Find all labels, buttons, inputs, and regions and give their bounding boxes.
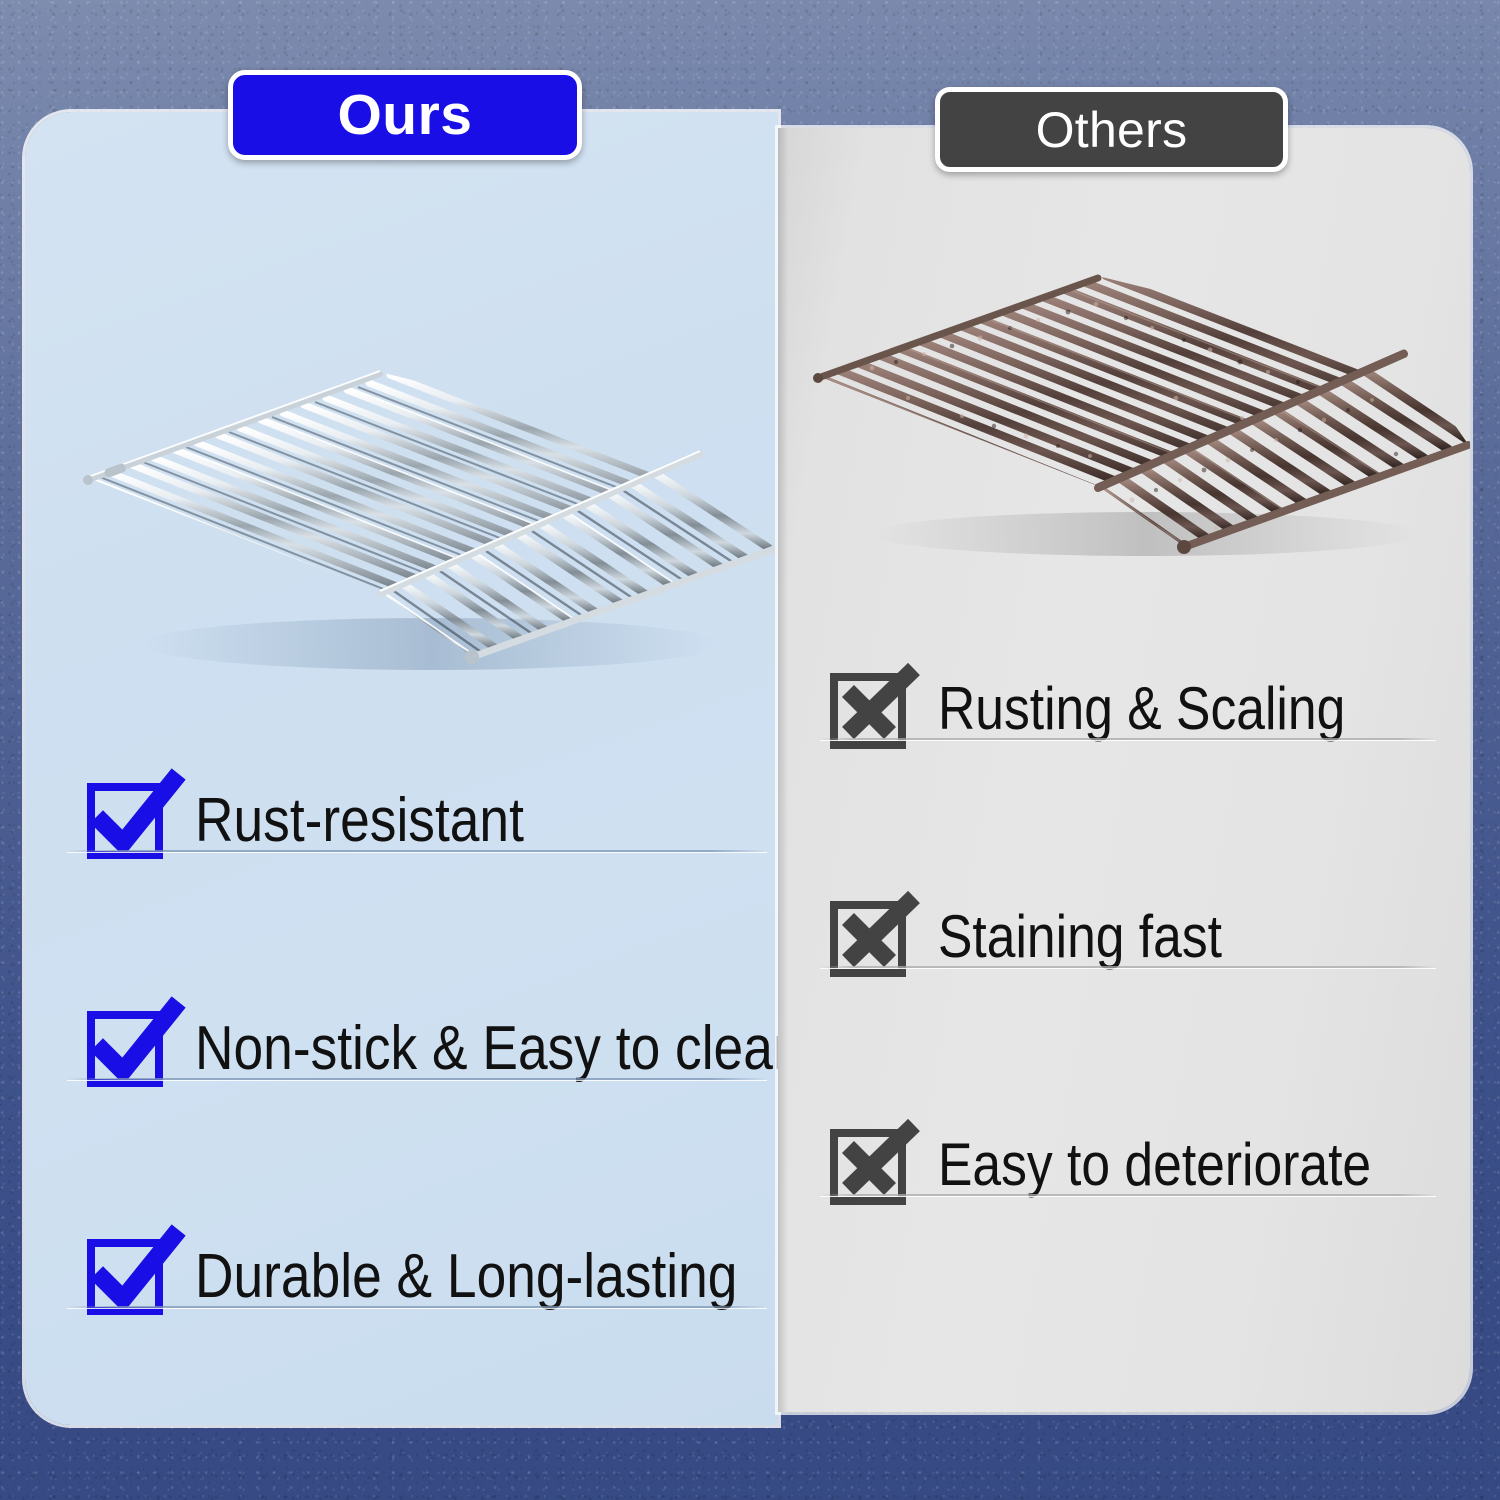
ours-product-image bbox=[80, 360, 778, 670]
ours-feature-list: Rust-resistant Non-stick & Easy to clean bbox=[67, 707, 777, 1391]
ours-panel: Rust-resistant Non-stick & Easy to clean bbox=[25, 112, 778, 1425]
feature-label: Durable & Long-lasting bbox=[195, 1246, 737, 1308]
feature-label: Staining fast bbox=[938, 907, 1222, 967]
feature-row: Non-stick & Easy to clean bbox=[67, 935, 777, 1163]
feature-row: Rusting & Scaling bbox=[820, 595, 1460, 823]
feature-row: Durable & Long-lasting bbox=[67, 1163, 777, 1391]
row-separator bbox=[820, 738, 1436, 740]
feature-label: Rusting & Scaling bbox=[938, 679, 1345, 739]
row-separator bbox=[820, 1194, 1436, 1196]
others-badge-label: Others bbox=[1036, 101, 1188, 159]
feature-row: Rust-resistant bbox=[67, 707, 777, 935]
row-separator bbox=[67, 1078, 767, 1080]
row-separator bbox=[67, 850, 767, 852]
feature-label: Non-stick & Easy to clean bbox=[195, 1018, 778, 1080]
ours-badge: Ours bbox=[228, 70, 582, 160]
others-badge: Others bbox=[935, 87, 1288, 172]
feature-row: Easy to deteriorate bbox=[820, 1051, 1460, 1279]
row-separator bbox=[67, 1306, 767, 1308]
others-feature-list: Rusting & Scaling Staining fast bbox=[820, 595, 1460, 1279]
feature-label: Easy to deteriorate bbox=[938, 1135, 1371, 1195]
feature-row: Staining fast bbox=[820, 823, 1460, 1051]
row-separator bbox=[820, 966, 1436, 968]
ours-badge-label: Ours bbox=[337, 82, 472, 148]
feature-label: Rust-resistant bbox=[195, 790, 524, 852]
comparison-infographic: Rust-resistant Non-stick & Easy to clean bbox=[0, 0, 1500, 1500]
others-product-image bbox=[812, 268, 1470, 558]
others-panel: Rusting & Scaling Staining fast bbox=[778, 128, 1470, 1412]
